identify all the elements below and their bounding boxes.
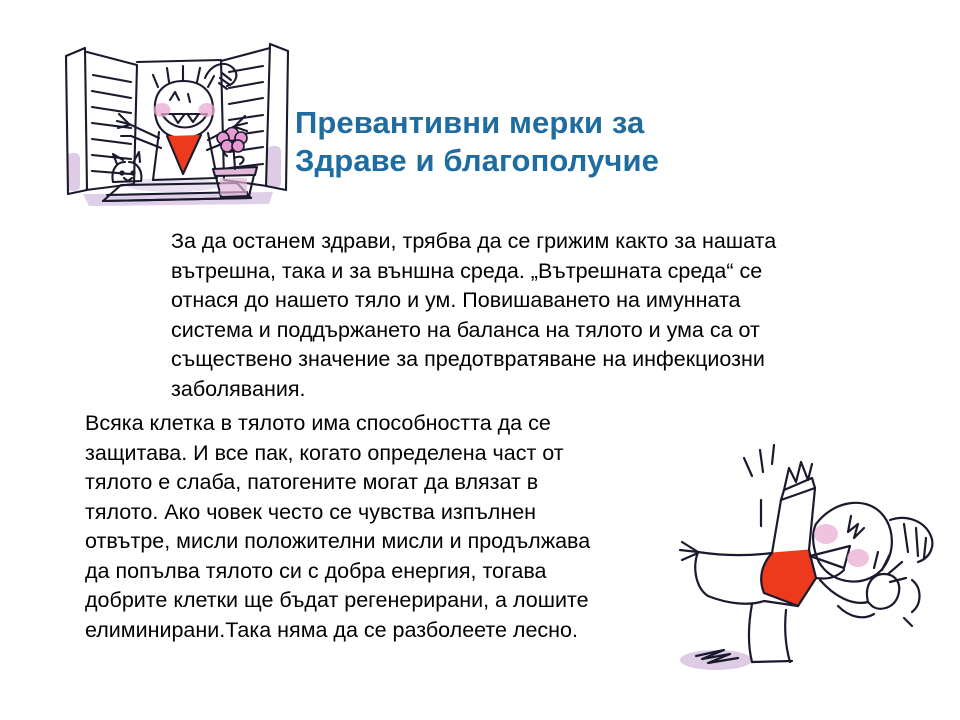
paragraph-one-line: За да останем здрави, трябва да се грижи… — [171, 227, 861, 257]
paragraph-two-line: Всяка клетка в тялото има способността д… — [85, 409, 675, 439]
paragraph-two-line: отвътре, мисли положителни мисли и продъ… — [85, 527, 675, 557]
window-illustration — [55, 28, 300, 223]
paragraph-one-line: система и поддържането на баланса на тял… — [171, 316, 861, 346]
body-paragraph-one: За да останем здрави, трябва да се грижи… — [171, 227, 861, 404]
paragraph-one-line: заболявания. — [171, 375, 861, 405]
title-line-1: Превантивни мерки за — [295, 104, 855, 142]
title-line-2: Здраве и благополучие — [295, 142, 855, 180]
paragraph-two-line: тялото. Ако човек често се чувства изпъл… — [85, 498, 675, 528]
paragraph-one-line: вътрешна, така и за външна среда. „Вътре… — [171, 257, 861, 287]
paragraph-two-line: да попълва тялото си с добра енергия, то… — [85, 557, 675, 587]
body-paragraph-two: Всяка клетка в тялото има способността д… — [85, 409, 675, 645]
slide-canvas: Превантивни мерки за Здраве и благополуч… — [0, 0, 960, 720]
stretching-person-illustration — [668, 428, 953, 683]
paragraph-two-line: тялото е слаба, патогените могат да вляз… — [85, 468, 675, 498]
paragraph-two-line: елиминирани.Така няма да се разболеете л… — [85, 616, 675, 646]
paragraph-one-line: отнася до нашето тяло и ум. Повишаването… — [171, 286, 861, 316]
paragraph-one-line: съществено значение за предотвратяване н… — [171, 345, 861, 375]
paragraph-two-line: добрите клетки ще бъдат регенерирани, а … — [85, 586, 675, 616]
paragraph-two-line: защитава. И все пак, когато определена ч… — [85, 439, 675, 469]
page-title: Превантивни мерки за Здраве и благополуч… — [295, 104, 855, 180]
